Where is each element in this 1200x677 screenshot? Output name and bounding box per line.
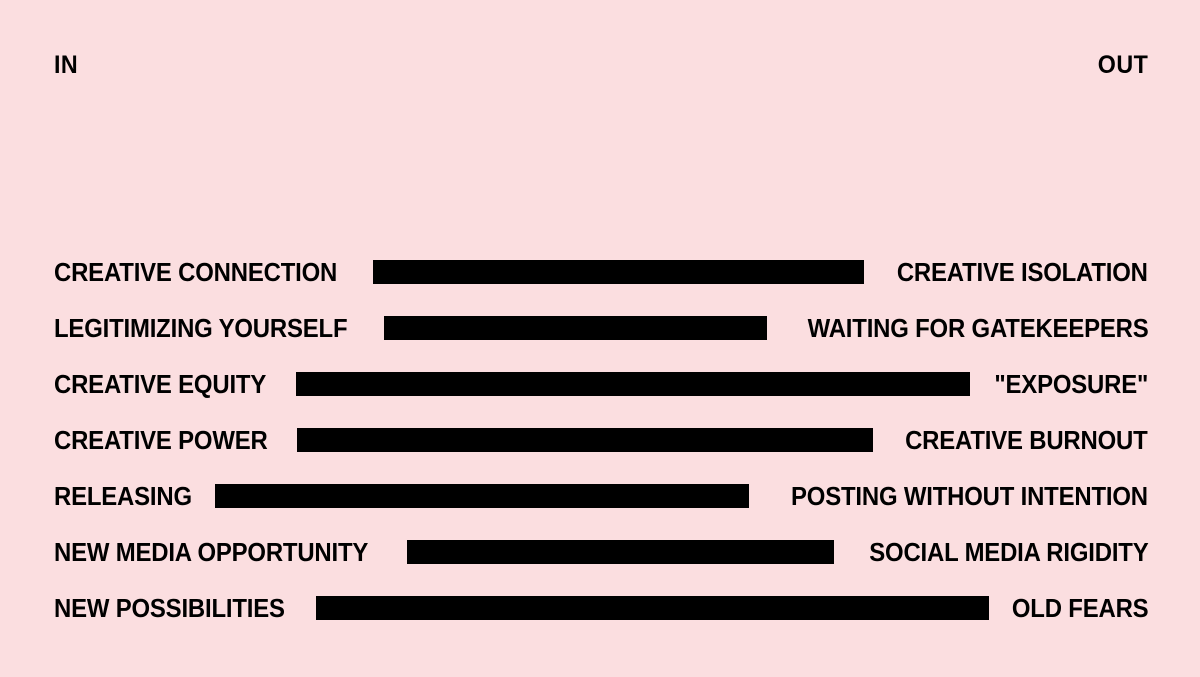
row-in-label: NEW POSSIBILITIES: [54, 595, 285, 621]
row-out-label: WAITING FOR GATEKEEPERS: [807, 315, 1148, 341]
poster-header: IN OUT: [54, 48, 1148, 82]
row-connector-bar: [384, 316, 767, 340]
list-row: LEGITIMIZING YOURSELF WAITING FOR GATEKE…: [54, 308, 1148, 348]
row-out-label: CREATIVE ISOLATION: [897, 259, 1148, 285]
row-connector-bar: [316, 596, 989, 620]
row-out-label: CREATIVE BURNOUT: [906, 427, 1148, 453]
row-connector-bar: [407, 540, 834, 564]
row-connector-bar: [297, 428, 873, 452]
row-in-label: CREATIVE EQUITY: [54, 371, 266, 397]
row-in-label: LEGITIMIZING YOURSELF: [54, 315, 347, 341]
row-out-label: POSTING WITHOUT INTENTION: [791, 483, 1148, 509]
row-connector-bar: [215, 484, 749, 508]
header-label-out: OUT: [1098, 53, 1148, 78]
list-row: CREATIVE CONNECTION CREATIVE ISOLATION: [54, 252, 1148, 292]
list-row: CREATIVE EQUITY "EXPOSURE": [54, 364, 1148, 404]
row-out-label: "EXPOSURE": [994, 371, 1148, 397]
list-row: CREATIVE POWER CREATIVE BURNOUT: [54, 420, 1148, 460]
row-out-label: OLD FEARS: [1011, 595, 1148, 621]
header-label-in: IN: [54, 53, 78, 78]
row-in-label: NEW MEDIA OPPORTUNITY: [54, 539, 368, 565]
row-in-label: CREATIVE POWER: [54, 427, 268, 453]
list-row: RELEASING POSTING WITHOUT INTENTION: [54, 476, 1148, 516]
row-connector-bar: [373, 260, 864, 284]
poster-canvas: IN OUT CREATIVE CONNECTION CREATIVE ISOL…: [0, 0, 1200, 677]
row-connector-bar: [296, 372, 970, 396]
in-out-list: CREATIVE CONNECTION CREATIVE ISOLATION L…: [54, 252, 1148, 628]
row-out-label: SOCIAL MEDIA RIGIDITY: [869, 539, 1148, 565]
row-in-label: RELEASING: [54, 483, 192, 509]
list-row: NEW POSSIBILITIES OLD FEARS: [54, 588, 1148, 628]
list-row: NEW MEDIA OPPORTUNITY SOCIAL MEDIA RIGID…: [54, 532, 1148, 572]
row-in-label: CREATIVE CONNECTION: [54, 259, 337, 285]
